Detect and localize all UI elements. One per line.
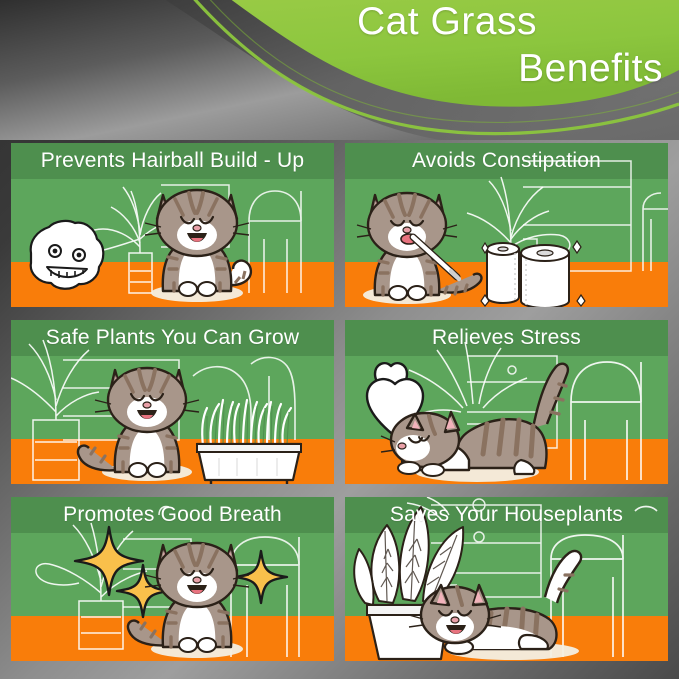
panel-title: Saves Your Houseplants <box>345 497 668 533</box>
toilet-paper-rolls-illustration <box>487 243 569 307</box>
panel-title: Relieves Stress <box>345 320 668 356</box>
panel-scene: Safe Plants You Can Grow <box>11 320 334 484</box>
panel-scene: Relieves Stress <box>345 320 668 484</box>
header-title: Cat Grass Benefits <box>245 2 665 88</box>
cat-illustration <box>145 190 251 302</box>
panel-title: Avoids Constipation <box>345 143 668 179</box>
panel-scene: Promotes Good Breath <box>11 497 334 661</box>
panel-title: Safe Plants You Can Grow <box>11 320 334 356</box>
benefit-panel-relieves-stress[interactable]: Relieves Stress <box>345 320 668 484</box>
infographic-canvas: Cat Grass Benefits <box>0 0 679 679</box>
benefit-panel-saves-houseplants[interactable]: Saves Your Houseplants <box>345 497 668 661</box>
cat-illustration <box>78 368 199 481</box>
panel-title: Promotes Good Breath <box>11 497 334 533</box>
benefit-panel-promotes-good-breath[interactable]: Promotes Good Breath <box>11 497 334 661</box>
cat-illustration <box>357 193 481 304</box>
benefit-panel-safe-plants[interactable]: Safe Plants You Can Grow <box>11 320 334 484</box>
hairball-illustration <box>31 221 104 289</box>
header-title-line-2: Benefits <box>245 49 665 88</box>
benefit-panel-avoids-constipation[interactable]: Avoids Constipation <box>345 143 668 307</box>
panel-scene: Prevents Hairball Build - Up <box>11 143 334 307</box>
panel-scene: Saves Your Houseplants <box>345 497 668 661</box>
panel-title: Prevents Hairball Build - Up <box>11 143 334 179</box>
benefit-panel-prevents-hairball[interactable]: Prevents Hairball Build - Up <box>11 143 334 307</box>
panel-scene: Avoids Constipation <box>345 143 668 307</box>
benefits-grid: Prevents Hairball Build - Up <box>11 143 668 661</box>
sparkle-star-large <box>75 527 143 595</box>
header-banner: Cat Grass Benefits <box>0 0 679 140</box>
header-title-line-1: Cat Grass <box>245 2 665 41</box>
grass-planter-illustration <box>197 400 301 484</box>
